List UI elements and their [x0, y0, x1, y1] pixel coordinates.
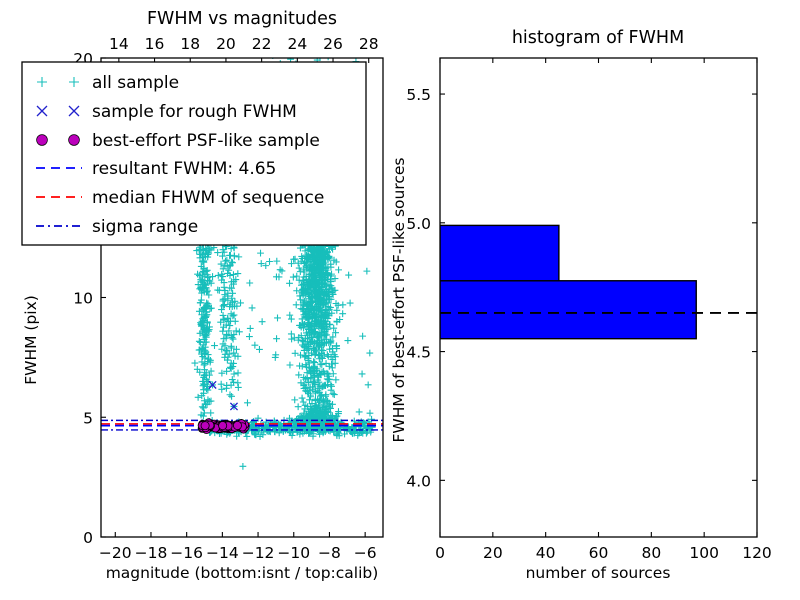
- circle-marker: [69, 135, 80, 146]
- histogram-xtick: 100: [689, 544, 719, 562]
- psf-point: [219, 422, 227, 430]
- scatter-title: FWHM vs magnitudes: [147, 9, 337, 29]
- histogram-ytick: 4.0: [406, 472, 431, 490]
- histogram-xtick: 120: [742, 544, 772, 562]
- legend: all samplesample for rough FWHMbest-effo…: [22, 62, 366, 245]
- histogram-ytick: 5.0: [406, 215, 431, 233]
- scatter-xtick-top: 16: [145, 35, 165, 53]
- scatter-xtick-bottom: −18: [135, 544, 168, 562]
- legend-label-2: best-effort PSF-like sample: [92, 131, 320, 151]
- legend-label-0: all sample: [92, 73, 179, 93]
- scatter-xtick-bottom: −14: [206, 544, 239, 562]
- histogram-xtick: 20: [483, 544, 503, 562]
- scatter-xtick-top: 14: [109, 35, 129, 53]
- legend-label-4: median FHWM of sequence: [92, 188, 324, 208]
- scatter-xtick-top: 20: [216, 35, 236, 53]
- histogram-bar[interactable]: [440, 225, 559, 280]
- scatter-xtick-bottom: −16: [170, 544, 203, 562]
- histogram-xtick: 60: [589, 544, 609, 562]
- legend-label-3: resultant FWHM: 4.65: [92, 159, 276, 179]
- scatter-xtick-top: 18: [180, 35, 200, 53]
- scatter-xtick-bottom: −10: [277, 544, 310, 562]
- legend-label-1: sample for rough FWHM: [92, 102, 297, 122]
- scatter-xtick-bottom: −6: [354, 544, 377, 562]
- scatter-xtick-top: 28: [359, 35, 379, 53]
- scatter-xlabel: magnitude (bottom:isnt / top:calib): [106, 564, 379, 582]
- histogram-xtick: 80: [641, 544, 661, 562]
- scatter-xtick-bottom: −12: [242, 544, 275, 562]
- scatter-ytick: 0: [83, 529, 93, 547]
- figure-canvas: FWHM vs magnitudes 1416182022242628 −20−…: [0, 0, 800, 600]
- scatter-ylabel: FWHM (pix): [22, 295, 40, 385]
- scatter-xtick-top: 26: [323, 35, 343, 53]
- histogram-ylabel: FWHM of best-effort PSF-like sources: [390, 157, 408, 442]
- histogram-bar[interactable]: [440, 281, 696, 339]
- histogram-title: histogram of FWHM: [512, 28, 684, 48]
- scatter-bottom-tick-labels: −20−18−16−14−12−10−8−6: [99, 544, 377, 562]
- circle-marker: [37, 135, 48, 146]
- histogram-ytick: 4.5: [406, 344, 431, 362]
- matplotlib-figure: FWHM vs magnitudes 1416182022242628 −20−…: [0, 0, 800, 600]
- scatter-xtick-top: 24: [287, 35, 307, 53]
- histogram-ytick: 5.5: [406, 86, 431, 104]
- histogram-xtick: 0: [435, 544, 445, 562]
- histogram-xtick: 40: [536, 544, 556, 562]
- psf-sample-points: [198, 419, 249, 434]
- scatter-xtick-top: 22: [252, 35, 272, 53]
- scatter-ytick: 5: [83, 409, 93, 427]
- scatter-xtick-bottom: −20: [99, 544, 132, 562]
- scatter-ytick: 10: [73, 290, 93, 308]
- psf-point: [201, 422, 209, 430]
- psf-point: [233, 421, 241, 429]
- scatter-xtick-bottom: −8: [318, 544, 341, 562]
- histogram-xlabel: number of sources: [526, 564, 671, 582]
- legend-label-5: sigma range: [92, 217, 198, 237]
